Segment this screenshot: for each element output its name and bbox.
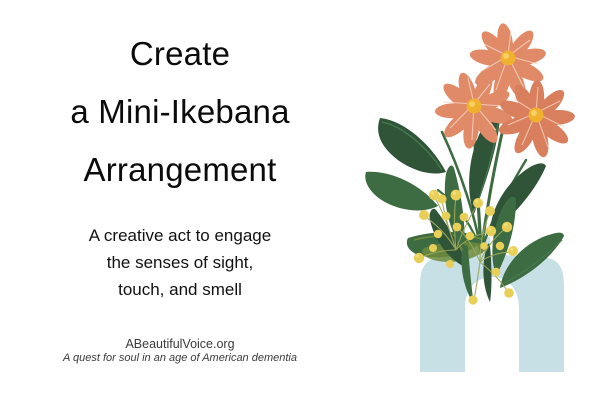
- footer-tagline: A quest for soul in an age of American d…: [0, 352, 360, 364]
- poster-card: Create a Mini-Ikebana Arrangement A crea…: [0, 0, 600, 400]
- subtitle-line-1: A creative act to engage: [0, 227, 360, 244]
- page-title-line-3: Arrangement: [0, 153, 360, 186]
- footer-site-name: ABeautifulVoice.org: [0, 337, 360, 351]
- subtitle-line-2: the senses of sight,: [0, 254, 360, 271]
- page-title-line-2: a Mini-Ikebana: [0, 95, 360, 128]
- subtitle-line-3: touch, and smell: [0, 281, 360, 298]
- page-title-line-1: Create: [0, 37, 360, 70]
- text-column: Create a Mini-Ikebana Arrangement A crea…: [0, 0, 360, 400]
- ikebana-illustration: [350, 0, 600, 400]
